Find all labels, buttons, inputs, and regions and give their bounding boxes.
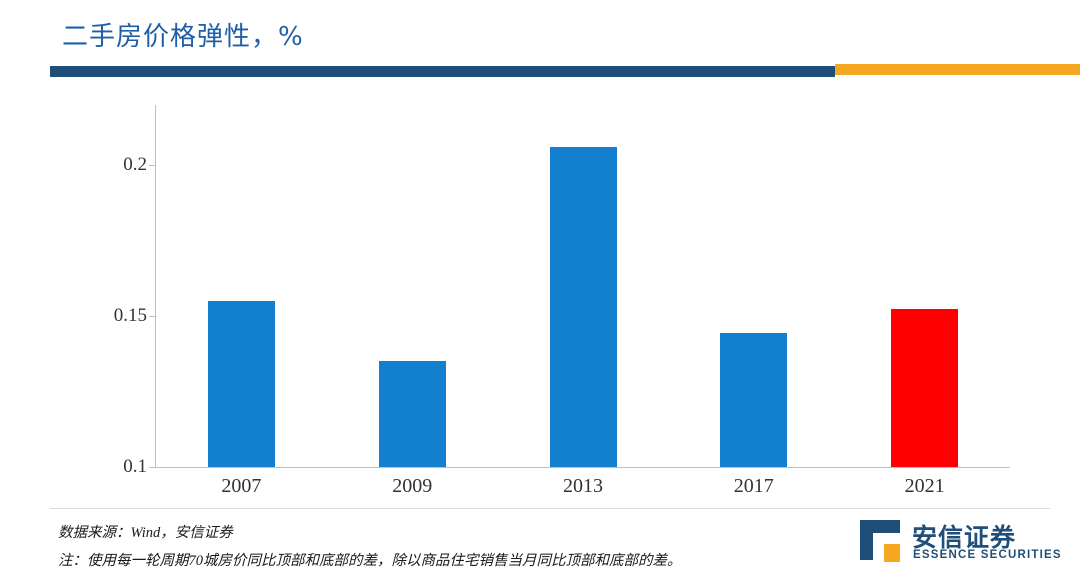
method-note: 注：使用每一轮周期70城房价同比顶部和底部的差，除以商品住宅销售当月同比顶部和底… (58, 549, 682, 570)
x-axis-tick-label: 2013 (563, 475, 603, 498)
x-axis-tick-label: 2007 (221, 475, 261, 498)
header-rule-orange (835, 64, 1080, 75)
footer-divider (50, 508, 1050, 509)
logo-text-en: ESSENCE SECURITIES (913, 549, 1062, 561)
y-axis-tick-label: 0.15 (114, 305, 147, 327)
bar-chart: 0.10.150.2 20072009201320172021 (50, 95, 1020, 475)
bar (379, 361, 446, 467)
logo-mark-accent-icon (884, 544, 900, 562)
y-axis-tick-label: 0.2 (123, 154, 147, 176)
bar (720, 333, 787, 467)
company-logo: 安信证券 ESSENCE SECURITIES (860, 518, 1060, 566)
bars-layer (156, 105, 1010, 467)
header-rule-blue (50, 66, 835, 77)
source-note: 数据来源：Wind，安信证券 (58, 521, 233, 542)
x-axis-tick-label: 2017 (734, 475, 774, 498)
y-axis-tick-mark (149, 467, 155, 468)
y-axis-tick-mark (149, 165, 155, 166)
bar (550, 147, 617, 467)
x-axis-line (155, 467, 1010, 468)
y-axis-tick-label: 0.1 (123, 456, 147, 478)
bar (208, 301, 275, 467)
slide-root: 二手房价格弹性，% 0.10.150.2 2007200920132017202… (0, 0, 1080, 582)
page-title: 二手房价格弹性，% (62, 16, 304, 53)
logo-mark-icon (860, 520, 900, 560)
bar (891, 309, 958, 467)
x-axis-tick-label: 2009 (392, 475, 432, 498)
y-axis-tick-mark (149, 316, 155, 317)
x-axis-tick-label: 2021 (905, 475, 945, 498)
